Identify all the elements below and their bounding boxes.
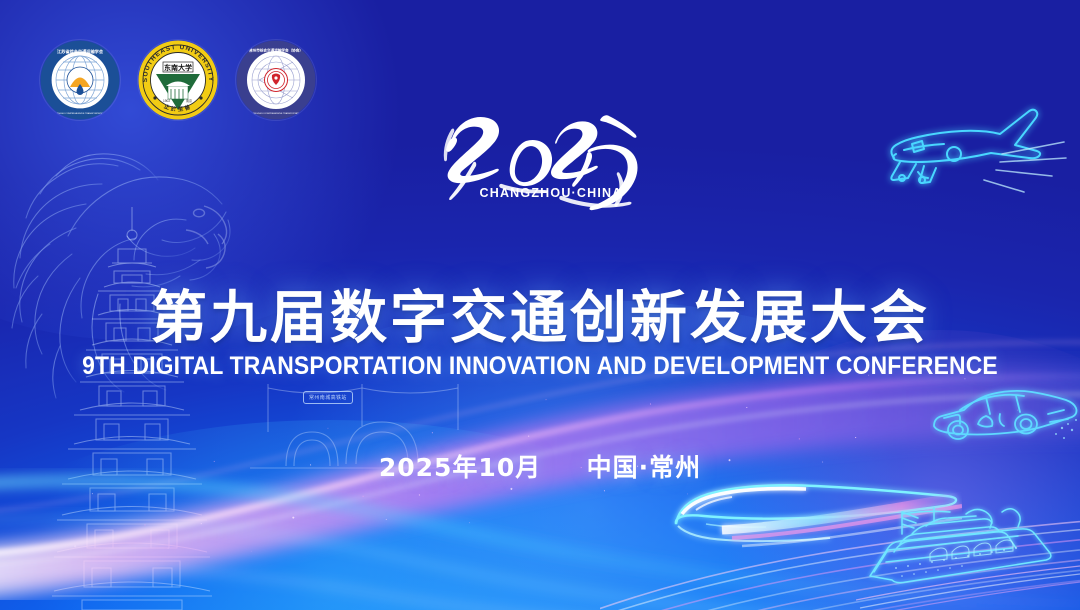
svg-text:JIANGSU COMPREHENSIVE TRANSPOR: JIANGSU COMPREHENSIVE TRANSPORTATION — [55, 112, 105, 115]
date-place-line: 2025年10月 中国·常州 — [0, 448, 1080, 484]
calligraphy-location-label: CHANGZHOU·CHINA — [476, 186, 626, 200]
jiangsu-comprehensive-transportation-society-logo: 江苏省综合交通运输学会 JIANGSU COMPREHENSIVE TRANSP… — [40, 40, 120, 120]
svg-text:CHANGZHOU COMPREHENSIVE TRANSP: CHANGZHOU COMPREHENSIVE TRANSPORTATION — [250, 112, 302, 115]
organizer-logos: 江苏省综合交通运输学会 JIANGSU COMPREHENSIVE TRANSP… — [40, 40, 316, 120]
date-label: 2025年10月 — [379, 453, 541, 482]
cruise-ship-neon-icon — [856, 488, 1080, 610]
station-sign-label: 常州南城高铁站 — [303, 391, 353, 404]
conference-banner: 常州南城高铁站 — [0, 0, 1080, 610]
svg-text:江苏省综合交通运输学会: 江苏省综合交通运输学会 — [57, 48, 104, 55]
southeast-university-logo: 东南大学 1902 南京 SOUTHEAST UNIVERSITY 止於至善 — [138, 40, 218, 120]
page-title-cn: 第九届数字交通创新发展大会 — [0, 272, 1080, 354]
ribbon-lines-bottom-right — [600, 470, 1080, 610]
svg-text:东南大学: 东南大学 — [164, 63, 192, 72]
svg-text:1902: 1902 — [163, 99, 170, 103]
svg-text:南京: 南京 — [186, 98, 192, 103]
svg-text:常州市综合交通运输学会（协会）: 常州市综合交通运输学会（协会） — [249, 48, 303, 53]
place-label: 中国·常州 — [587, 453, 702, 482]
airplane-neon-icon — [862, 96, 1078, 216]
page-title-en: 9TH DIGITAL TRANSPORTATION INNOVATION AN… — [46, 352, 1034, 381]
changzhou-comprehensive-transportation-society-logo: 常州市综合交通运输学会（协会） CHANGZHOU COMPREHENSIVE … — [236, 40, 316, 120]
pagoda-landmark-icon — [52, 205, 212, 610]
high-speed-train-neon-icon — [662, 468, 962, 578]
